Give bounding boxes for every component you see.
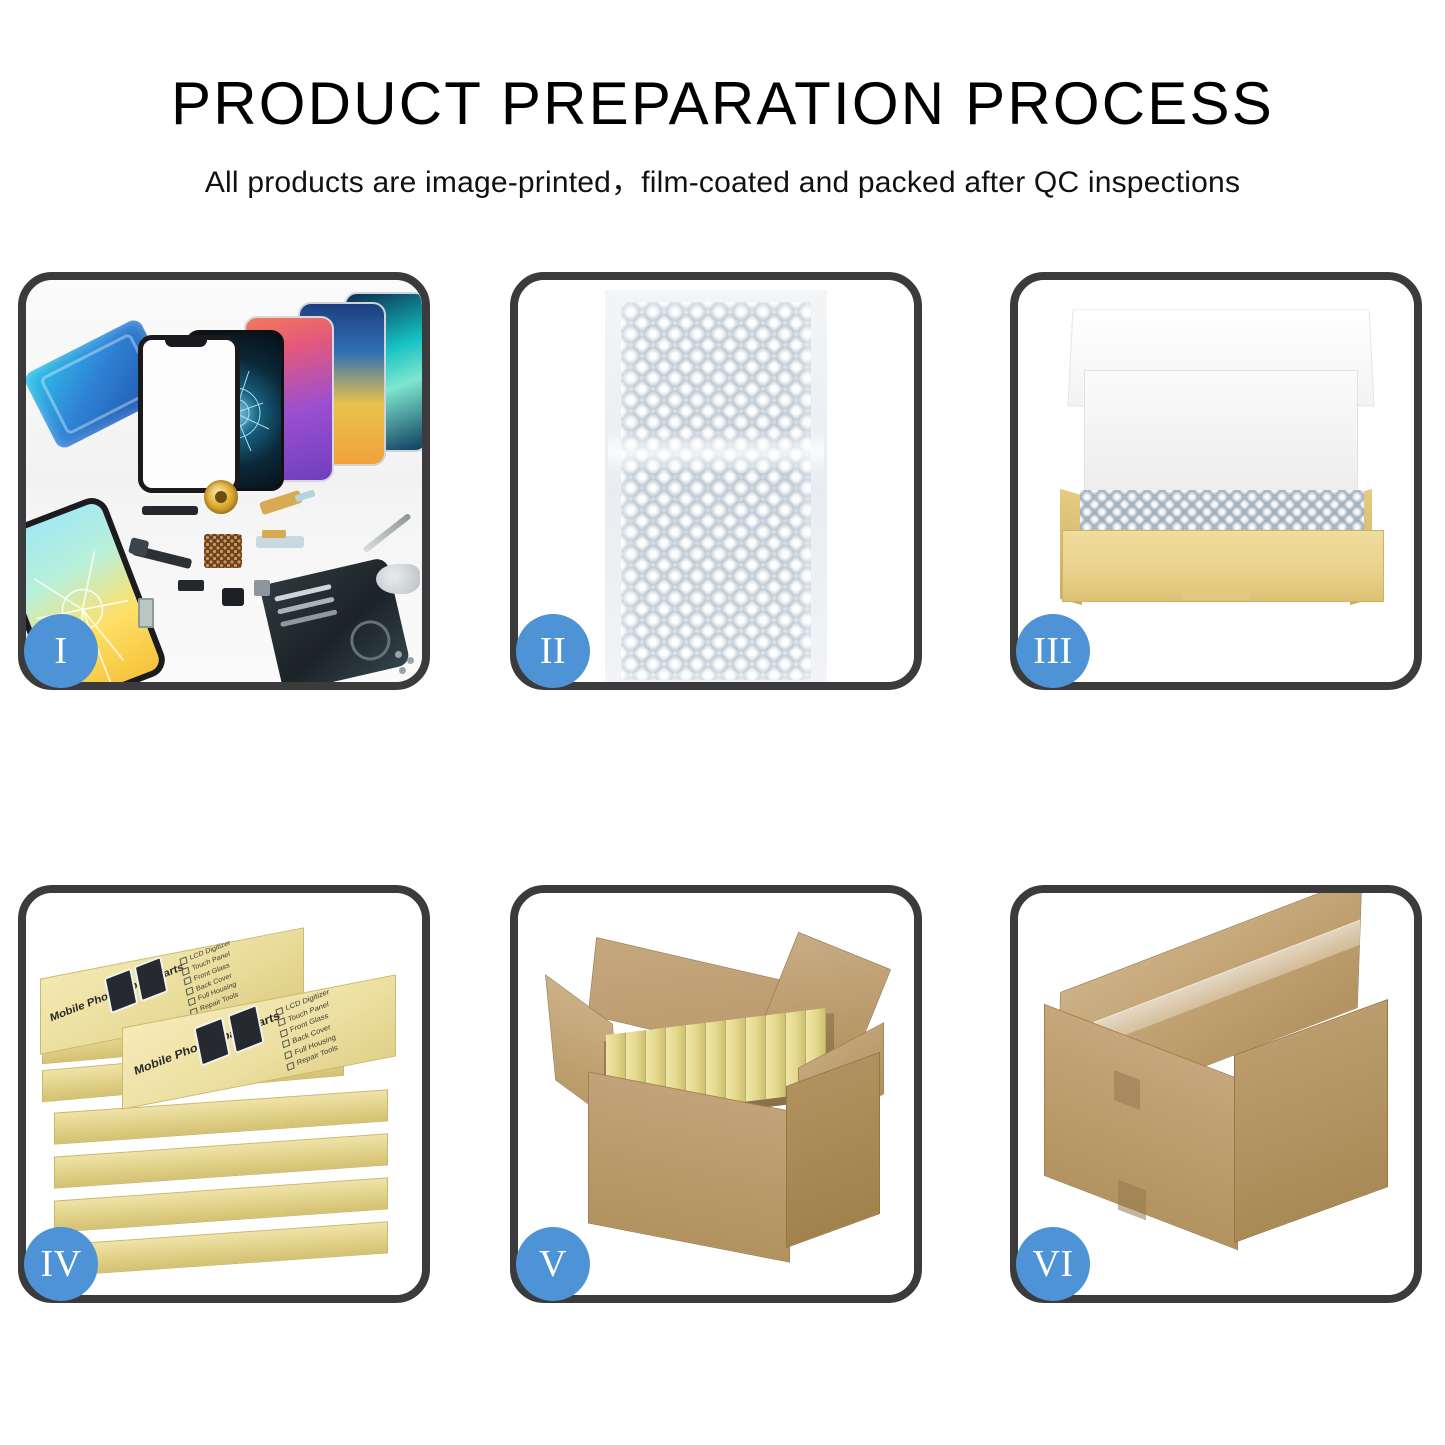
step-badge-3: III bbox=[1016, 614, 1090, 688]
page-subtitle: All products are image-printed，film-coat… bbox=[0, 135, 1445, 201]
cleaning-brush-tool bbox=[376, 564, 420, 594]
process-row-top: 08:08 bbox=[18, 272, 1430, 690]
page-header: PRODUCT PREPARATION PROCESS All products… bbox=[0, 0, 1445, 201]
step-badge-5: V bbox=[516, 1227, 590, 1301]
step-badge-6: VI bbox=[1016, 1227, 1090, 1301]
step-card-4[interactable]: Mobile Phone Spare Parts LCD Digitizer T… bbox=[18, 885, 430, 1303]
open-carton bbox=[548, 941, 884, 1261]
inner-box-item bbox=[746, 1015, 766, 1101]
step-badge-2: II bbox=[516, 614, 590, 688]
box-screen-graphic bbox=[227, 1004, 264, 1054]
box-screen-graphic bbox=[134, 956, 169, 1003]
wrap-highlight bbox=[608, 430, 824, 474]
sealed-carton bbox=[1040, 923, 1392, 1263]
carton-side-panel bbox=[786, 1052, 880, 1248]
step-card-3[interactable]: III bbox=[1010, 272, 1422, 690]
inner-box-item bbox=[726, 1018, 746, 1104]
wireless-coil-part bbox=[204, 480, 238, 514]
process-steps-grid: 08:08 bbox=[18, 272, 1430, 1303]
box-screen-graphic bbox=[104, 968, 139, 1015]
screws-part bbox=[395, 651, 402, 658]
step-card-6[interactable]: VI bbox=[1010, 885, 1422, 1303]
step-card-1[interactable]: 08:08 bbox=[18, 272, 430, 690]
box-foam-lining bbox=[1084, 370, 1358, 500]
stacked-box-slab bbox=[54, 1221, 388, 1276]
inner-box-item bbox=[706, 1020, 726, 1106]
box-checklist: LCD Digitizer Touch Panel Front Glass Ba… bbox=[275, 986, 342, 1073]
speaker-part bbox=[142, 506, 198, 515]
step-2-image bbox=[518, 280, 914, 682]
chip-array-part bbox=[204, 534, 242, 568]
sim-tray-part bbox=[138, 598, 154, 628]
connector-part-3 bbox=[254, 580, 270, 596]
page-title: PRODUCT PREPARATION PROCESS bbox=[0, 0, 1445, 135]
step-6-image bbox=[1018, 893, 1414, 1295]
step-4-image: Mobile Phone Spare Parts LCD Digitizer T… bbox=[26, 893, 422, 1295]
box-screen-graphic bbox=[193, 1017, 230, 1067]
step-1-image: 08:08 bbox=[26, 280, 422, 682]
box-closure-tab bbox=[1181, 592, 1251, 600]
bubble-wrap-sheet bbox=[621, 302, 811, 680]
step-card-5[interactable]: V bbox=[510, 885, 922, 1303]
step-badge-4: IV bbox=[24, 1227, 98, 1301]
step-card-2[interactable]: II bbox=[510, 272, 922, 690]
connector-part-2 bbox=[222, 588, 244, 606]
flex-cable-part-b bbox=[256, 536, 304, 548]
box-stack: Mobile Phone Spare Parts LCD Digitizer T… bbox=[50, 927, 398, 1271]
process-row-bottom: Mobile Phone Spare Parts LCD Digitizer T… bbox=[18, 885, 1430, 1303]
front-glass-part bbox=[138, 335, 240, 493]
step-badge-1: I bbox=[24, 614, 98, 688]
connector-part-1 bbox=[178, 580, 204, 591]
inner-box-item bbox=[766, 1013, 786, 1099]
step-5-image bbox=[518, 893, 914, 1295]
step-3-image bbox=[1018, 280, 1414, 682]
